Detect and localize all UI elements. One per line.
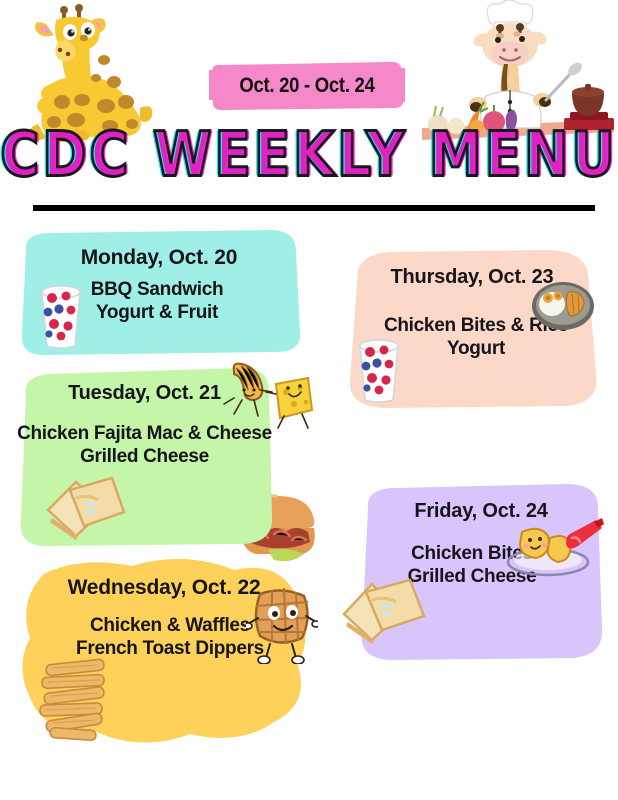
day-title-monday: Monday, Oct. 20 <box>14 246 304 270</box>
chicken-rice-plate-icon <box>530 278 596 332</box>
menu-item: BBQ Sandwich <box>62 278 252 301</box>
macaroni-character-icon <box>220 360 320 432</box>
day-card-monday: Monday, Oct. 20 BBQ Sandwich Yogurt & Fr… <box>14 228 304 356</box>
menu-item: Grilled Cheese <box>4 445 285 468</box>
day-card-thursday: Thursday, Oct. 23 Chicken Bites & Rice Y… <box>340 248 604 410</box>
yogurt-parfait-cup-icon <box>32 276 90 350</box>
day-items-monday: BBQ Sandwich Yogurt & Fruit <box>62 278 252 324</box>
yogurt-parfait-cup-icon <box>350 330 408 404</box>
grilled-cheese-icon <box>40 470 132 544</box>
grilled-cheese-icon <box>338 568 434 648</box>
date-range-banner: Oct. 20 - Oct. 24 <box>207 60 407 112</box>
header-divider <box>33 205 595 211</box>
menu-item: Yogurt & Fruit <box>62 301 252 324</box>
weekly-menu-poster: Oct. 20 - Oct. 24 CDC WEEKLY MENU Monday… <box>0 0 618 800</box>
day-card-wednesday: Wednesday, Oct. 22 Chicken & Waffles Fre… <box>14 556 314 750</box>
french-toast-sticks-icon <box>28 656 124 742</box>
page-title: CDC WEEKLY MENU <box>0 125 618 186</box>
day-card-tuesday: Tuesday, Oct. 21 Chicken Fajita Mac & Ch… <box>12 366 277 548</box>
waffle-character-icon <box>246 580 318 664</box>
date-range-text: Oct. 20 - Oct. 24 <box>219 60 395 112</box>
day-card-friday: Friday, Oct. 24 Chicken Bites Grilled Ch… <box>352 482 610 662</box>
chicken-nuggets-ketchup-icon <box>504 516 604 582</box>
